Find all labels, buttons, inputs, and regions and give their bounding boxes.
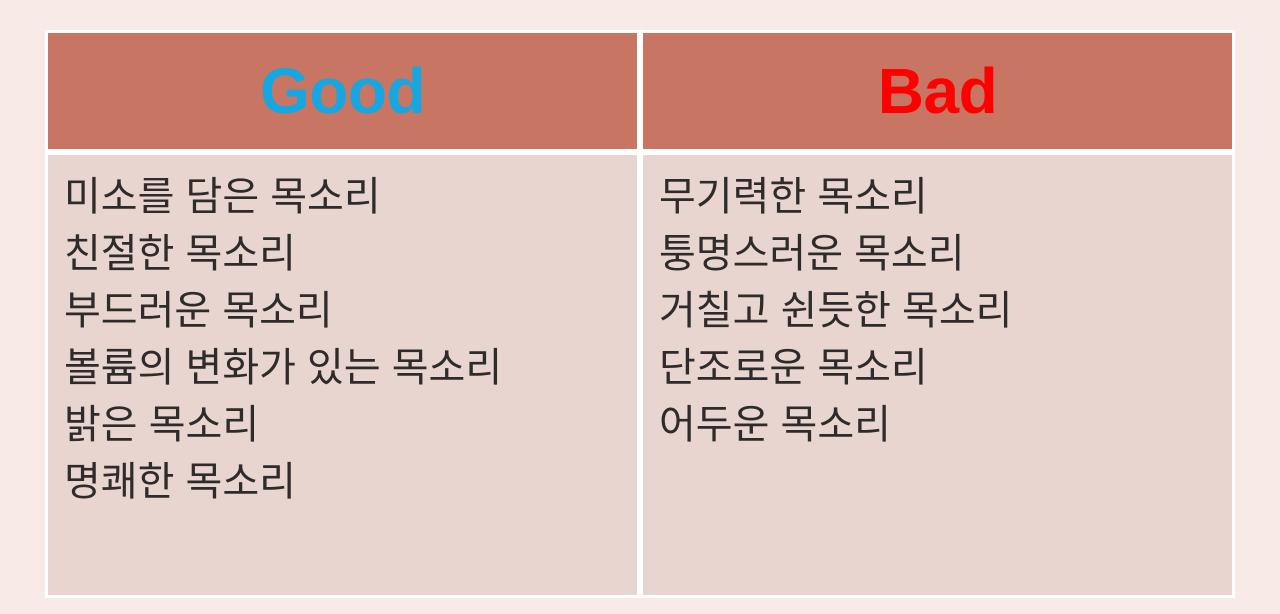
column-header-bad-label: Bad (878, 55, 997, 127)
list-item: 미소를 담은 목소리 (64, 169, 621, 226)
list-item: 무기력한 목소리 (659, 169, 1216, 226)
list-item: 볼륨의 변화가 있는 목소리 (64, 340, 621, 397)
table-header-row: Good Bad (45, 30, 1235, 152)
column-cell-bad: 무기력한 목소리 퉁명스러운 목소리 거칠고 쉰듯한 목소리 단조로운 목소리 … (640, 152, 1235, 598)
slide-canvas: Good Bad 미소를 담은 목소리 친절한 목소리 부드러운 목소리 볼륨의… (0, 0, 1280, 614)
list-item: 밝은 목소리 (64, 397, 621, 454)
list-item: 어두운 목소리 (659, 397, 1216, 454)
good-voice-list: 미소를 담은 목소리 친절한 목소리 부드러운 목소리 볼륨의 변화가 있는 목… (64, 169, 621, 511)
column-header-bad: Bad (640, 30, 1235, 152)
list-item: 부드러운 목소리 (64, 283, 621, 340)
column-header-good-label: Good (260, 55, 425, 127)
good-bad-comparison-table: Good Bad 미소를 담은 목소리 친절한 목소리 부드러운 목소리 볼륨의… (45, 30, 1235, 598)
table-body-row: 미소를 담은 목소리 친절한 목소리 부드러운 목소리 볼륨의 변화가 있는 목… (45, 152, 1235, 598)
list-item: 친절한 목소리 (64, 226, 621, 283)
list-item: 명쾌한 목소리 (64, 454, 621, 511)
column-cell-good: 미소를 담은 목소리 친절한 목소리 부드러운 목소리 볼륨의 변화가 있는 목… (45, 152, 640, 598)
list-item: 단조로운 목소리 (659, 340, 1216, 397)
list-item: 거칠고 쉰듯한 목소리 (659, 283, 1216, 340)
column-header-good: Good (45, 30, 640, 152)
bad-voice-list: 무기력한 목소리 퉁명스러운 목소리 거칠고 쉰듯한 목소리 단조로운 목소리 … (659, 169, 1216, 454)
list-item: 퉁명스러운 목소리 (659, 226, 1216, 283)
